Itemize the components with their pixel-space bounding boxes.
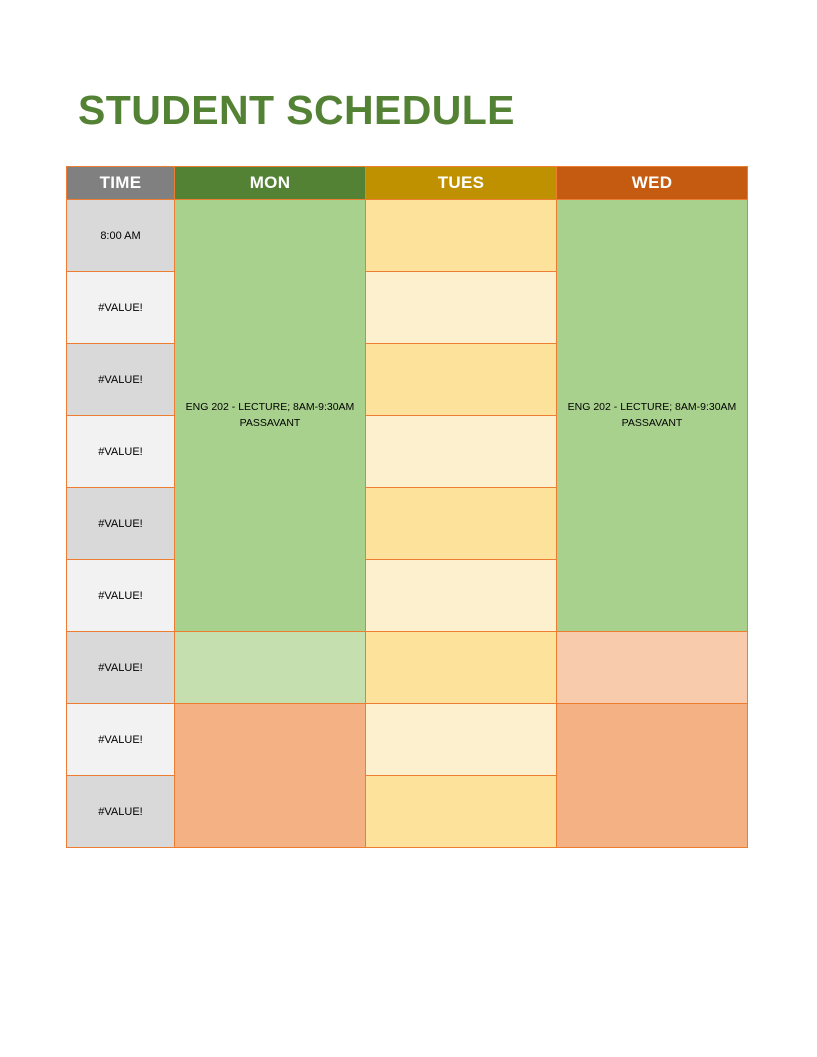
schedule-cell-tues[interactable] xyxy=(366,704,557,776)
column-header-mon[interactable]: MON xyxy=(175,167,366,200)
time-cell[interactable]: #VALUE! xyxy=(67,560,175,632)
table-body: 8:00 AM ENG 202 - LECTURE; 8AM-9:30AM PA… xyxy=(67,200,748,848)
time-cell[interactable]: #VALUE! xyxy=(67,488,175,560)
column-header-tues[interactable]: TUES xyxy=(366,167,557,200)
page-title: STUDENT SCHEDULE xyxy=(78,90,515,131)
table-row: 8:00 AM ENG 202 - LECTURE; 8AM-9:30AM PA… xyxy=(67,200,748,272)
time-cell[interactable]: #VALUE! xyxy=(67,344,175,416)
header-row: TIME MON TUES WED xyxy=(67,167,748,200)
schedule-entry-mon-label: ENG 202 - LECTURE; 8AM-9:30AM PASSAVANT xyxy=(175,400,365,430)
schedule-cell-mon[interactable] xyxy=(175,704,366,848)
schedule-page: STUDENT SCHEDULE TIME MON TUES WED 8:00 … xyxy=(0,0,817,1057)
table-row: #VALUE! xyxy=(67,704,748,776)
schedule-cell-wed[interactable] xyxy=(557,632,748,704)
schedule-cell-tues[interactable] xyxy=(366,344,557,416)
schedule-entry-wed-label: ENG 202 - LECTURE; 8AM-9:30AM PASSAVANT xyxy=(557,400,747,430)
schedule-cell-tues[interactable] xyxy=(366,272,557,344)
schedule-table: TIME MON TUES WED 8:00 AM ENG 202 - LECT… xyxy=(66,166,748,848)
schedule-cell-tues[interactable] xyxy=(366,200,557,272)
schedule-cell-tues[interactable] xyxy=(366,776,557,848)
schedule-cell-tues[interactable] xyxy=(366,560,557,632)
time-cell[interactable]: #VALUE! xyxy=(67,632,175,704)
time-cell[interactable]: #VALUE! xyxy=(67,704,175,776)
schedule-cell-mon[interactable] xyxy=(175,632,366,704)
schedule-cell-tues[interactable] xyxy=(366,416,557,488)
schedule-entry-wed[interactable]: ENG 202 - LECTURE; 8AM-9:30AM PASSAVANT xyxy=(557,200,748,632)
schedule-entry-mon[interactable]: ENG 202 - LECTURE; 8AM-9:30AM PASSAVANT xyxy=(175,200,366,632)
schedule-cell-tues[interactable] xyxy=(366,632,557,704)
time-cell[interactable]: #VALUE! xyxy=(67,272,175,344)
time-cell[interactable]: #VALUE! xyxy=(67,416,175,488)
time-cell[interactable]: #VALUE! xyxy=(67,776,175,848)
column-header-time[interactable]: TIME xyxy=(67,167,175,200)
column-header-wed[interactable]: WED xyxy=(557,167,748,200)
time-cell[interactable]: 8:00 AM xyxy=(67,200,175,272)
schedule-cell-tues[interactable] xyxy=(366,488,557,560)
schedule-cell-wed[interactable] xyxy=(557,704,748,848)
table-header: TIME MON TUES WED xyxy=(67,167,748,200)
table-row: #VALUE! xyxy=(67,632,748,704)
